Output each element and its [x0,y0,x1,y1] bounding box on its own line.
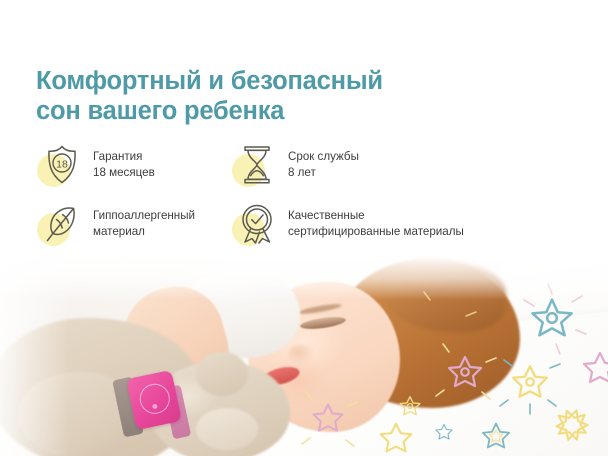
feature-warranty-line-1: Гарантия [93,150,142,163]
feature-warranty: 18 Гарантия 18 месяцев [36,142,231,188]
shield-18-glyph: 18 [42,143,82,187]
feature-certified-line-2: сертифицированные материалы [288,224,464,241]
banner-content: Комфортный и безопасный сон вашего ребен… [0,0,608,456]
award-check-glyph [237,202,277,246]
feature-hypoallergenic-line-2: материал [93,224,195,241]
feature-hypoallergenic-line-1: Гиппоаллергенный [93,209,195,222]
hourglass-icon [231,142,277,188]
feature-row-1: 18 Гарантия 18 месяцев [36,142,576,188]
feature-lifespan-line-1: Срок службы [288,150,359,163]
feature-hypoallergenic: Гиппоаллергенный материал [36,201,231,247]
page-title: Комфортный и безопасный сон вашего ребен… [36,66,456,126]
hourglass-glyph [237,143,277,187]
feature-lifespan: Срок службы 8 лет [231,142,576,188]
feature-hypoallergenic-text: Гиппоаллергенный материал [93,208,195,241]
feather-icon [36,201,82,247]
feature-row-2: Гиппоаллергенный материал [36,201,576,247]
feature-lifespan-line-2: 8 лет [288,165,359,182]
feature-warranty-line-2: 18 месяцев [93,165,155,182]
feature-list: 18 Гарантия 18 месяцев [36,142,576,247]
headline-line-2: сон вашего ребенка [36,96,456,126]
sleep-product-banner: Комфортный и безопасный сон вашего ребен… [0,0,608,456]
warranty-months-number: 18 [56,158,68,170]
feature-warranty-text: Гарантия 18 месяцев [93,149,155,182]
feature-certified-text: Качественные сертифицированные материалы [288,208,464,241]
feature-lifespan-text: Срок службы 8 лет [288,149,359,182]
feature-certified: Качественные сертифицированные материалы [231,201,576,247]
award-check-icon [231,201,277,247]
feather-glyph [42,202,82,246]
headline-line-1: Комфортный и безопасный [36,67,383,95]
feature-certified-line-1: Качественные [288,209,365,222]
shield-18-icon: 18 [36,142,82,188]
